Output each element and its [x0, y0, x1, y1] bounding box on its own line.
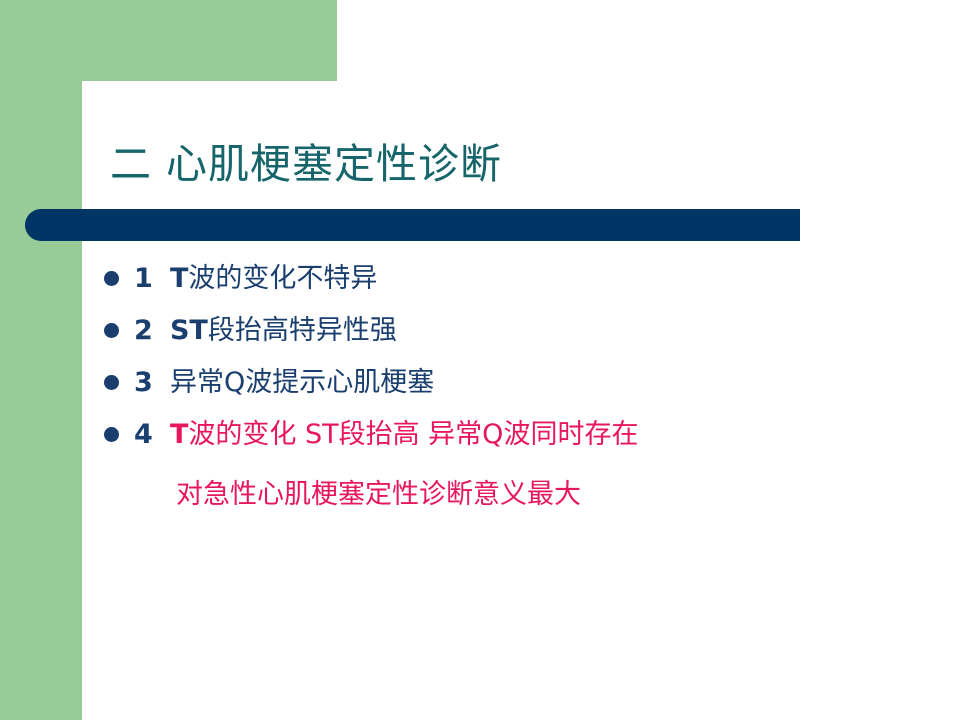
slide-canvas: 二 心肌梗塞定性诊断 1 T波的变化不特异 2 ST段抬高特异性强 3 异常Q波…: [0, 0, 960, 720]
bullet-item-4-lead: T: [170, 419, 188, 450]
bullet-item-2-number: 2: [134, 315, 153, 346]
bullet-dot-icon: [104, 271, 119, 286]
title-divider-bar: [25, 209, 800, 241]
bullet-dot-icon: [104, 375, 119, 390]
bullet-item-1-lead: T: [170, 263, 188, 294]
bullet-dot-icon: [104, 323, 119, 338]
list-item: 1 T波的变化不特异: [104, 256, 954, 308]
bullet-list: 1 T波的变化不特异 2 ST段抬高特异性强 3 异常Q波提示心肌梗塞 4 T波…: [104, 256, 954, 464]
bullet-dot-icon: [104, 427, 119, 442]
bullet-item-1-text: 1 T波的变化不特异: [134, 256, 954, 302]
bullet-item-2-rest: 段抬高特异性强: [208, 315, 397, 346]
bullet-item-3-rest: 异常Q波提示心肌梗塞: [170, 367, 434, 398]
bullet-item-1-number: 1: [134, 263, 153, 294]
bullet-item-4-text: 4 T波的变化 ST段抬高 异常Q波同时存在: [134, 412, 954, 458]
slide-title: 二 心肌梗塞定性诊断: [110, 136, 910, 192]
bullet-item-3-text: 3 异常Q波提示心肌梗塞: [134, 360, 954, 406]
list-item: 4 T波的变化 ST段抬高 异常Q波同时存在: [104, 412, 954, 464]
bullet-item-2-text: 2 ST段抬高特异性强: [134, 308, 954, 354]
bullet-item-4-continuation: 对急性心肌梗塞定性诊断意义最大: [176, 472, 581, 518]
bullet-item-1-rest: 波的变化不特异: [188, 263, 377, 294]
bullet-item-4-number: 4: [134, 419, 153, 450]
list-item: 3 异常Q波提示心肌梗塞: [104, 360, 954, 412]
bullet-item-2-lead: ST: [170, 315, 208, 346]
bullet-item-3-number: 3: [134, 367, 153, 398]
bullet-item-4-rest: 波的变化 ST段抬高 异常Q波同时存在: [188, 419, 638, 450]
green-side-strip: [0, 0, 82, 720]
list-item: 2 ST段抬高特异性强: [104, 308, 954, 360]
